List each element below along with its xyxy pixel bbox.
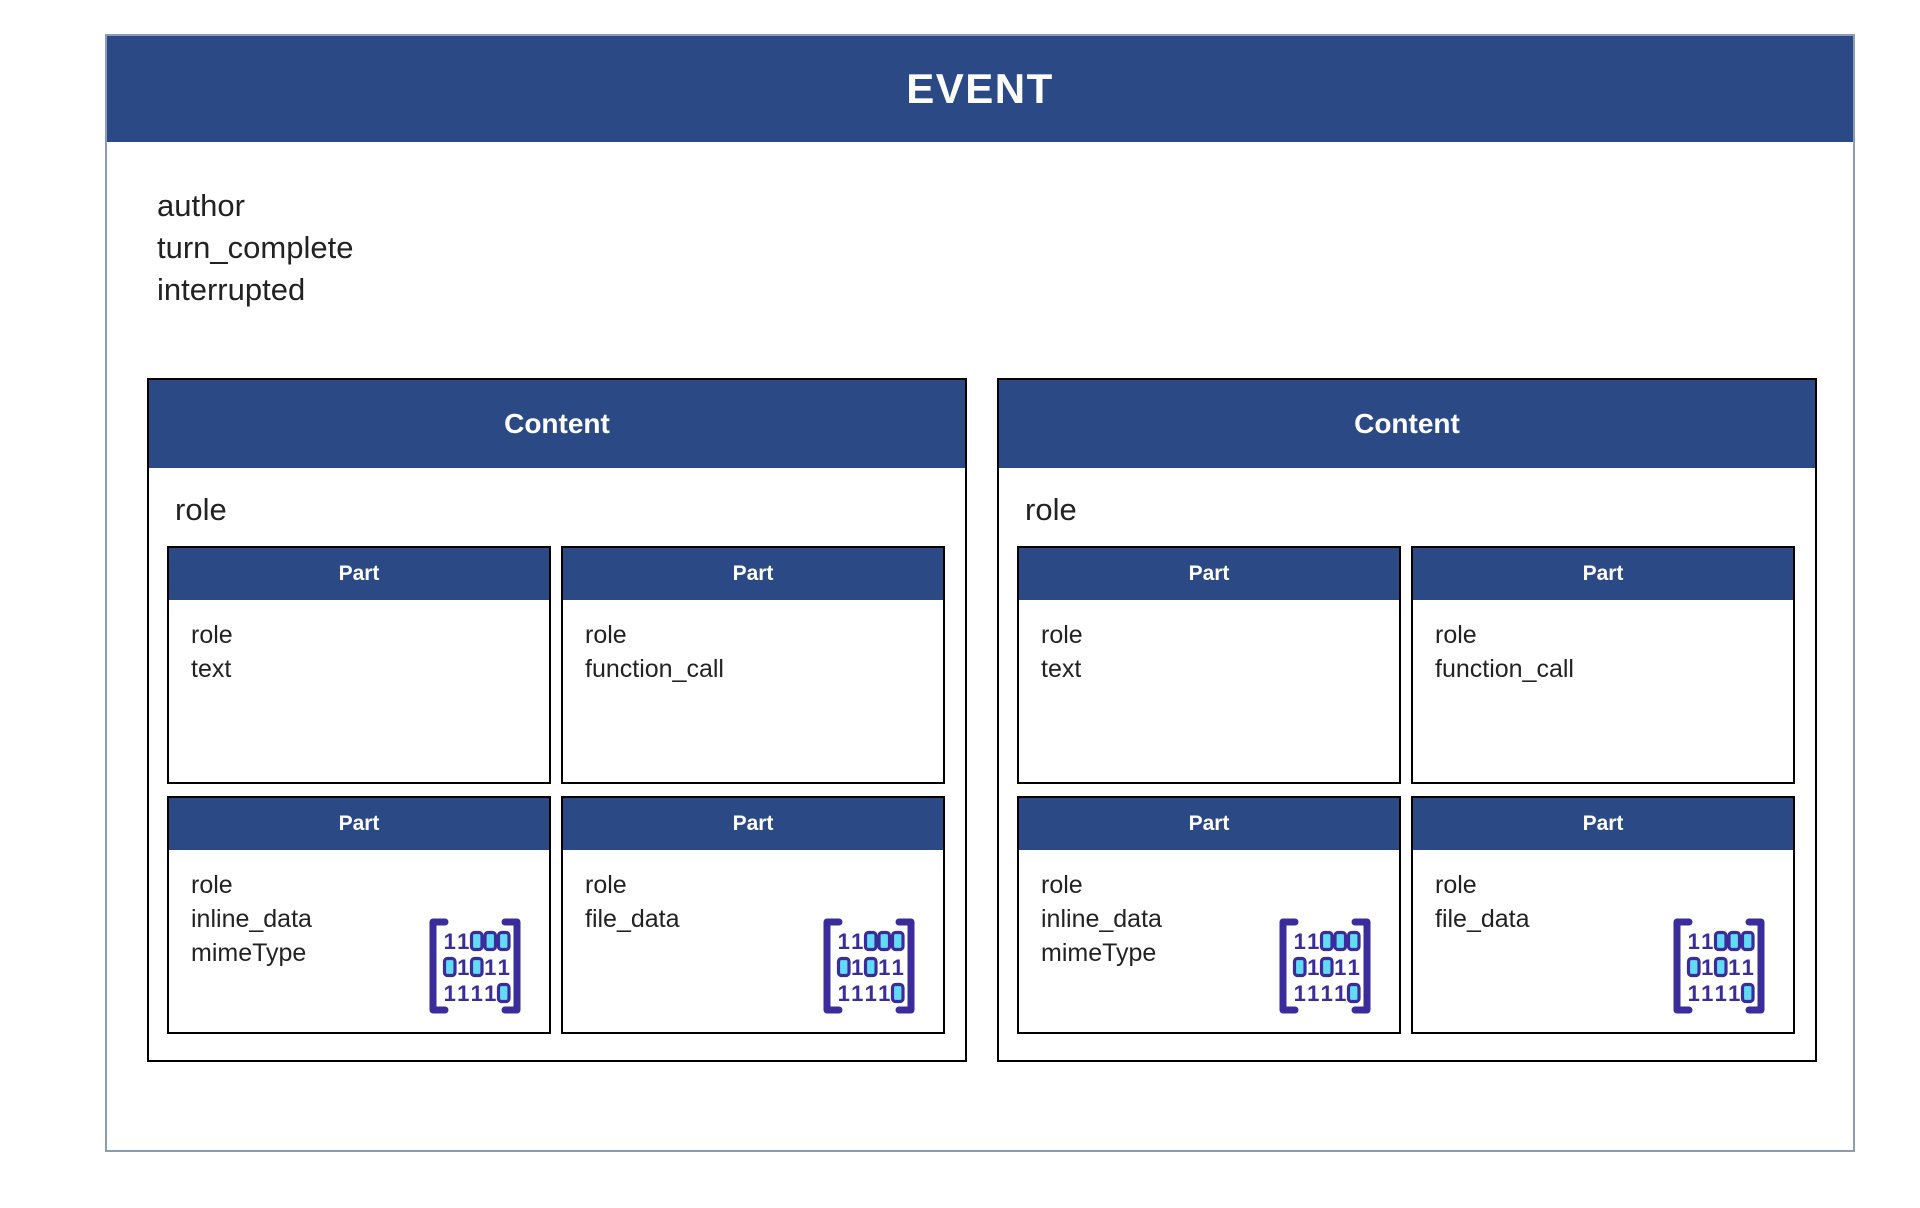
svg-text:1: 1 <box>1334 981 1346 1006</box>
part-body: role text <box>1019 600 1399 782</box>
svg-text:1: 1 <box>1701 955 1713 980</box>
part-header: Part <box>1413 798 1793 850</box>
part-box: Partrole function_call <box>1411 546 1795 784</box>
part-title: Part <box>733 812 774 836</box>
svg-text:1: 1 <box>892 955 904 980</box>
part-field-list: role function_call <box>1435 618 1793 686</box>
part-title: Part <box>1583 562 1624 586</box>
content-header: Content <box>999 380 1815 468</box>
svg-text:1: 1 <box>1294 929 1306 954</box>
part-field-list: role text <box>1041 618 1399 686</box>
svg-text:1: 1 <box>457 929 469 954</box>
part-body: role file_data111111111 <box>563 850 943 1032</box>
svg-text:1: 1 <box>1728 981 1740 1006</box>
part-box: Partrole inline_data mimeType111111111 <box>167 796 551 1034</box>
svg-text:1: 1 <box>1701 929 1713 954</box>
svg-text:1: 1 <box>1728 955 1740 980</box>
content-boxes-row: ContentrolePartrole textPartrole functio… <box>147 378 1817 1062</box>
content-role-label: role <box>149 468 965 546</box>
svg-text:1: 1 <box>865 981 877 1006</box>
part-header: Part <box>1019 798 1399 850</box>
content-box: ContentrolePartrole textPartrole functio… <box>997 378 1817 1062</box>
part-header: Part <box>563 548 943 600</box>
part-title: Part <box>1189 812 1230 836</box>
parts-grid: Partrole textPartrole function_callPartr… <box>999 546 1815 1034</box>
content-title: Content <box>504 408 610 440</box>
svg-text:1: 1 <box>1307 955 1319 980</box>
part-box: Partrole function_call <box>561 546 945 784</box>
svg-text:1: 1 <box>851 955 863 980</box>
part-body: role inline_data mimeType111111111 <box>169 850 549 1032</box>
svg-text:1: 1 <box>484 955 496 980</box>
part-field-list: role text <box>191 618 549 686</box>
part-body: role inline_data mimeType111111111 <box>1019 850 1399 1032</box>
svg-text:1: 1 <box>471 981 483 1006</box>
part-header: Part <box>563 798 943 850</box>
binary-data-icon: 111111111 <box>1273 914 1377 1018</box>
part-box: Partrole text <box>167 546 551 784</box>
svg-text:1: 1 <box>1321 981 1333 1006</box>
parts-grid: Partrole textPartrole function_callPartr… <box>149 546 965 1034</box>
content-title: Content <box>1354 408 1460 440</box>
svg-text:1: 1 <box>444 929 456 954</box>
part-header: Part <box>1413 548 1793 600</box>
part-box: Partrole file_data111111111 <box>561 796 945 1034</box>
svg-text:1: 1 <box>838 981 850 1006</box>
svg-text:1: 1 <box>457 955 469 980</box>
svg-text:1: 1 <box>1334 955 1346 980</box>
part-header: Part <box>169 548 549 600</box>
event-frame: EVENT author turn_complete interrupted C… <box>105 34 1855 1152</box>
svg-text:1: 1 <box>851 981 863 1006</box>
svg-text:1: 1 <box>838 929 850 954</box>
part-body: role function_call <box>563 600 943 782</box>
svg-text:1: 1 <box>1688 929 1700 954</box>
svg-text:1: 1 <box>457 981 469 1006</box>
part-header: Part <box>1019 548 1399 600</box>
svg-text:1: 1 <box>1307 929 1319 954</box>
content-header: Content <box>149 380 965 468</box>
content-body: rolePartrole textPartrole function_callP… <box>149 468 965 1060</box>
event-header: EVENT <box>107 36 1853 142</box>
event-field-list: author turn_complete interrupted <box>157 185 353 311</box>
diagram-canvas: EVENT author turn_complete interrupted C… <box>0 0 1920 1208</box>
part-field-list: role function_call <box>585 618 943 686</box>
part-box: Partrole text <box>1017 546 1401 784</box>
part-title: Part <box>733 562 774 586</box>
svg-text:1: 1 <box>1742 955 1754 980</box>
part-title: Part <box>1189 562 1230 586</box>
svg-text:1: 1 <box>1307 981 1319 1006</box>
svg-text:1: 1 <box>1294 981 1306 1006</box>
part-title: Part <box>339 562 380 586</box>
part-box: Partrole file_data111111111 <box>1411 796 1795 1034</box>
svg-text:1: 1 <box>498 955 510 980</box>
svg-text:1: 1 <box>878 981 890 1006</box>
part-title: Part <box>1583 812 1624 836</box>
svg-text:1: 1 <box>1715 981 1727 1006</box>
svg-text:1: 1 <box>1701 981 1713 1006</box>
part-box: Partrole inline_data mimeType111111111 <box>1017 796 1401 1034</box>
binary-data-icon: 111111111 <box>1667 914 1771 1018</box>
part-header: Part <box>169 798 549 850</box>
svg-text:1: 1 <box>1348 955 1360 980</box>
part-body: role text <box>169 600 549 782</box>
part-body: role file_data111111111 <box>1413 850 1793 1032</box>
part-body: role function_call <box>1413 600 1793 782</box>
page-title: EVENT <box>906 65 1054 113</box>
svg-text:1: 1 <box>444 981 456 1006</box>
event-body: author turn_complete interrupted Content… <box>107 142 1853 1150</box>
binary-data-icon: 111111111 <box>817 914 921 1018</box>
binary-data-icon: 111111111 <box>423 914 527 1018</box>
part-title: Part <box>339 812 380 836</box>
content-body: rolePartrole textPartrole function_callP… <box>999 468 1815 1060</box>
content-role-label: role <box>999 468 1815 546</box>
content-box: ContentrolePartrole textPartrole functio… <box>147 378 967 1062</box>
svg-text:1: 1 <box>878 955 890 980</box>
svg-text:1: 1 <box>851 929 863 954</box>
svg-text:1: 1 <box>484 981 496 1006</box>
svg-text:1: 1 <box>1688 981 1700 1006</box>
